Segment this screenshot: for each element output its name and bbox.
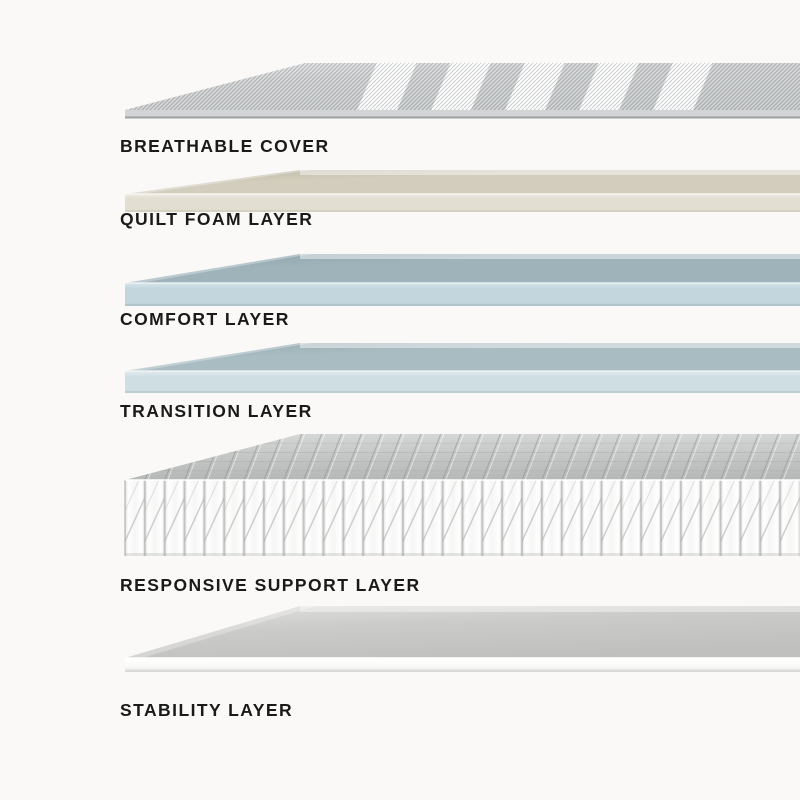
cover-fabric-icon	[0, 60, 800, 122]
pocketed-coil-icon	[0, 434, 800, 556]
foam-slab-icon	[0, 341, 800, 393]
layer-label-quilt-foam-layer: QUILT FOAM LAYER	[120, 211, 313, 229]
layer-label-breathable-cover: BREATHABLE COVER	[120, 138, 330, 156]
foam-slab-icon	[0, 252, 800, 306]
layer-label-transition-layer: TRANSITION LAYER	[120, 403, 313, 421]
layer-label-responsive-support-layer: RESPONSIVE SUPPORT LAYER	[120, 577, 421, 595]
mattress-layer-diagram: BREATHABLE COVERQUILT FOAM LAYERCOMFORT …	[0, 0, 800, 800]
foam-slab-icon	[0, 168, 800, 212]
layer-label-comfort-layer: COMFORT LAYER	[120, 311, 290, 329]
foam-base-icon	[0, 604, 800, 672]
layer-label-stability-layer: STABILITY LAYER	[120, 702, 293, 720]
